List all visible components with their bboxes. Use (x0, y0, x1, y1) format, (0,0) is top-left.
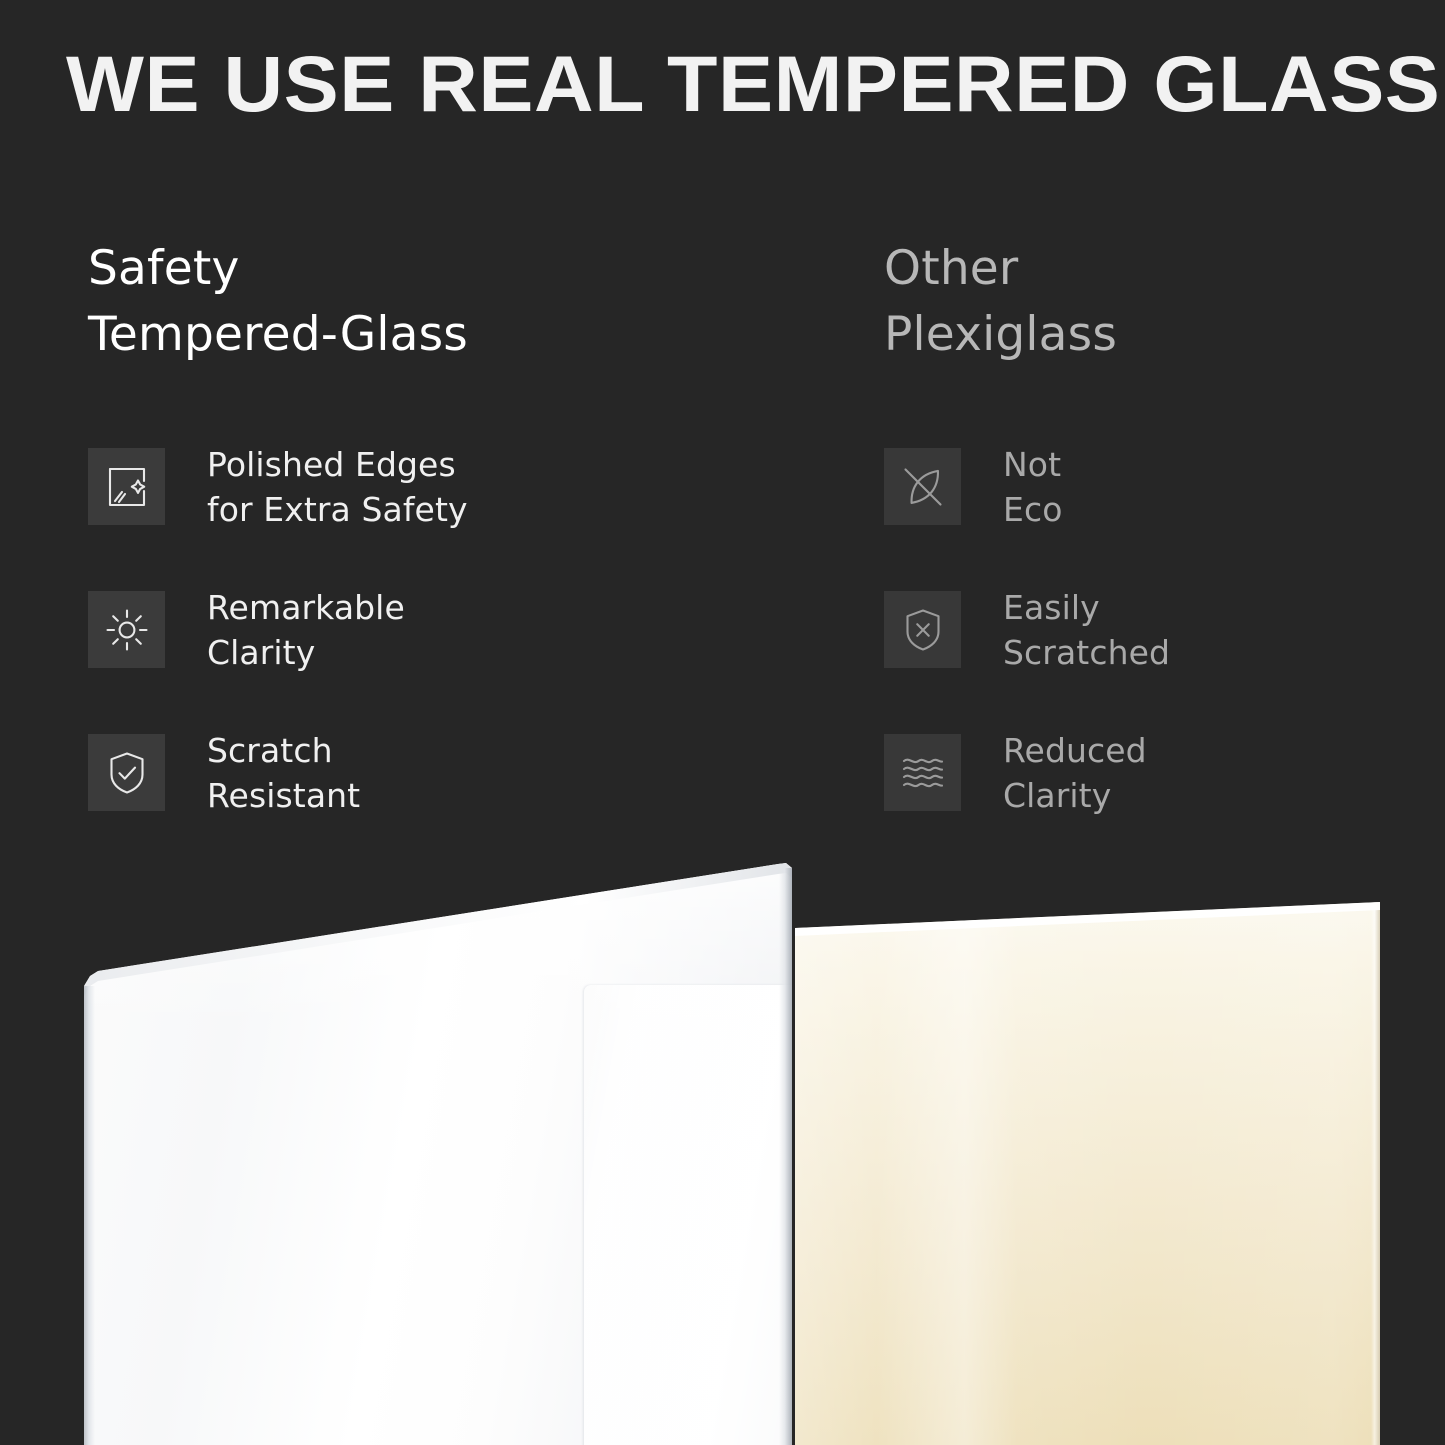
shield-check-icon (88, 734, 165, 811)
feature-label-line2: Scratched (1003, 630, 1170, 675)
feature-label-line2: Resistant (207, 773, 360, 818)
wavy-distortion-icon (884, 734, 961, 811)
feature-text: Polished Edges for Extra Safety (207, 442, 468, 532)
feature-label-line1: Scratch (207, 728, 360, 773)
feature-label-line1: Not (1003, 442, 1062, 487)
comparison-infographic: WE USE REAL TEMPERED GLASS Safety Temper… (0, 0, 1445, 1445)
product-panels-photo (0, 840, 1445, 1445)
glass-polished-left-edge (84, 986, 95, 1445)
plexi-right-edge (1371, 902, 1380, 1445)
feature-label-line2: Clarity (207, 630, 405, 675)
column-title-line1: Other (884, 236, 1424, 302)
feature-row: Polished Edges for Extra Safety (88, 442, 828, 585)
shield-x-icon (884, 591, 961, 668)
feature-list-plexiglass: Not Eco Easily Scratched (884, 442, 1424, 871)
feature-label-line2: Eco (1003, 487, 1062, 532)
page-title: WE USE REAL TEMPERED GLASS (66, 36, 1445, 132)
leaf-crossed-out-icon (884, 448, 961, 525)
feature-label-line1: Reduced (1003, 728, 1147, 773)
polished-glass-sparkle-icon (88, 448, 165, 525)
feature-row: Not Eco (884, 442, 1424, 585)
column-title-line2: Tempered-Glass (88, 302, 828, 368)
column-safety-tempered-glass: Safety Tempered-Glass Polished Edges for… (88, 236, 828, 368)
glass-inner-reflection (584, 985, 796, 1445)
glass-polished-right-edge (779, 868, 792, 1445)
feature-label-line1: Easily (1003, 585, 1170, 630)
yellowed-cream-plexiglass-panel (795, 840, 1380, 1445)
feature-text: Reduced Clarity (1003, 728, 1147, 818)
column-title-line2: Plexiglass (884, 302, 1424, 368)
column-title-line1: Safety (88, 236, 828, 302)
feature-text: Remarkable Clarity (207, 585, 405, 675)
feature-label-line1: Remarkable (207, 585, 405, 630)
feature-list-safety: Polished Edges for Extra Safety (88, 442, 828, 871)
feature-text: Easily Scratched (1003, 585, 1170, 675)
clear-white-tempered-glass-panel (84, 840, 792, 1445)
feature-text: Scratch Resistant (207, 728, 360, 818)
feature-row: Remarkable Clarity (88, 585, 828, 728)
feature-label-line1: Polished Edges (207, 442, 468, 487)
column-other-plexiglass: Other Plexiglass Not Eco (884, 236, 1424, 368)
sun-clarity-icon (88, 591, 165, 668)
feature-label-line2: for Extra Safety (207, 487, 468, 532)
feature-label-line2: Clarity (1003, 773, 1147, 818)
feature-row: Easily Scratched (884, 585, 1424, 728)
feature-text: Not Eco (1003, 442, 1062, 532)
